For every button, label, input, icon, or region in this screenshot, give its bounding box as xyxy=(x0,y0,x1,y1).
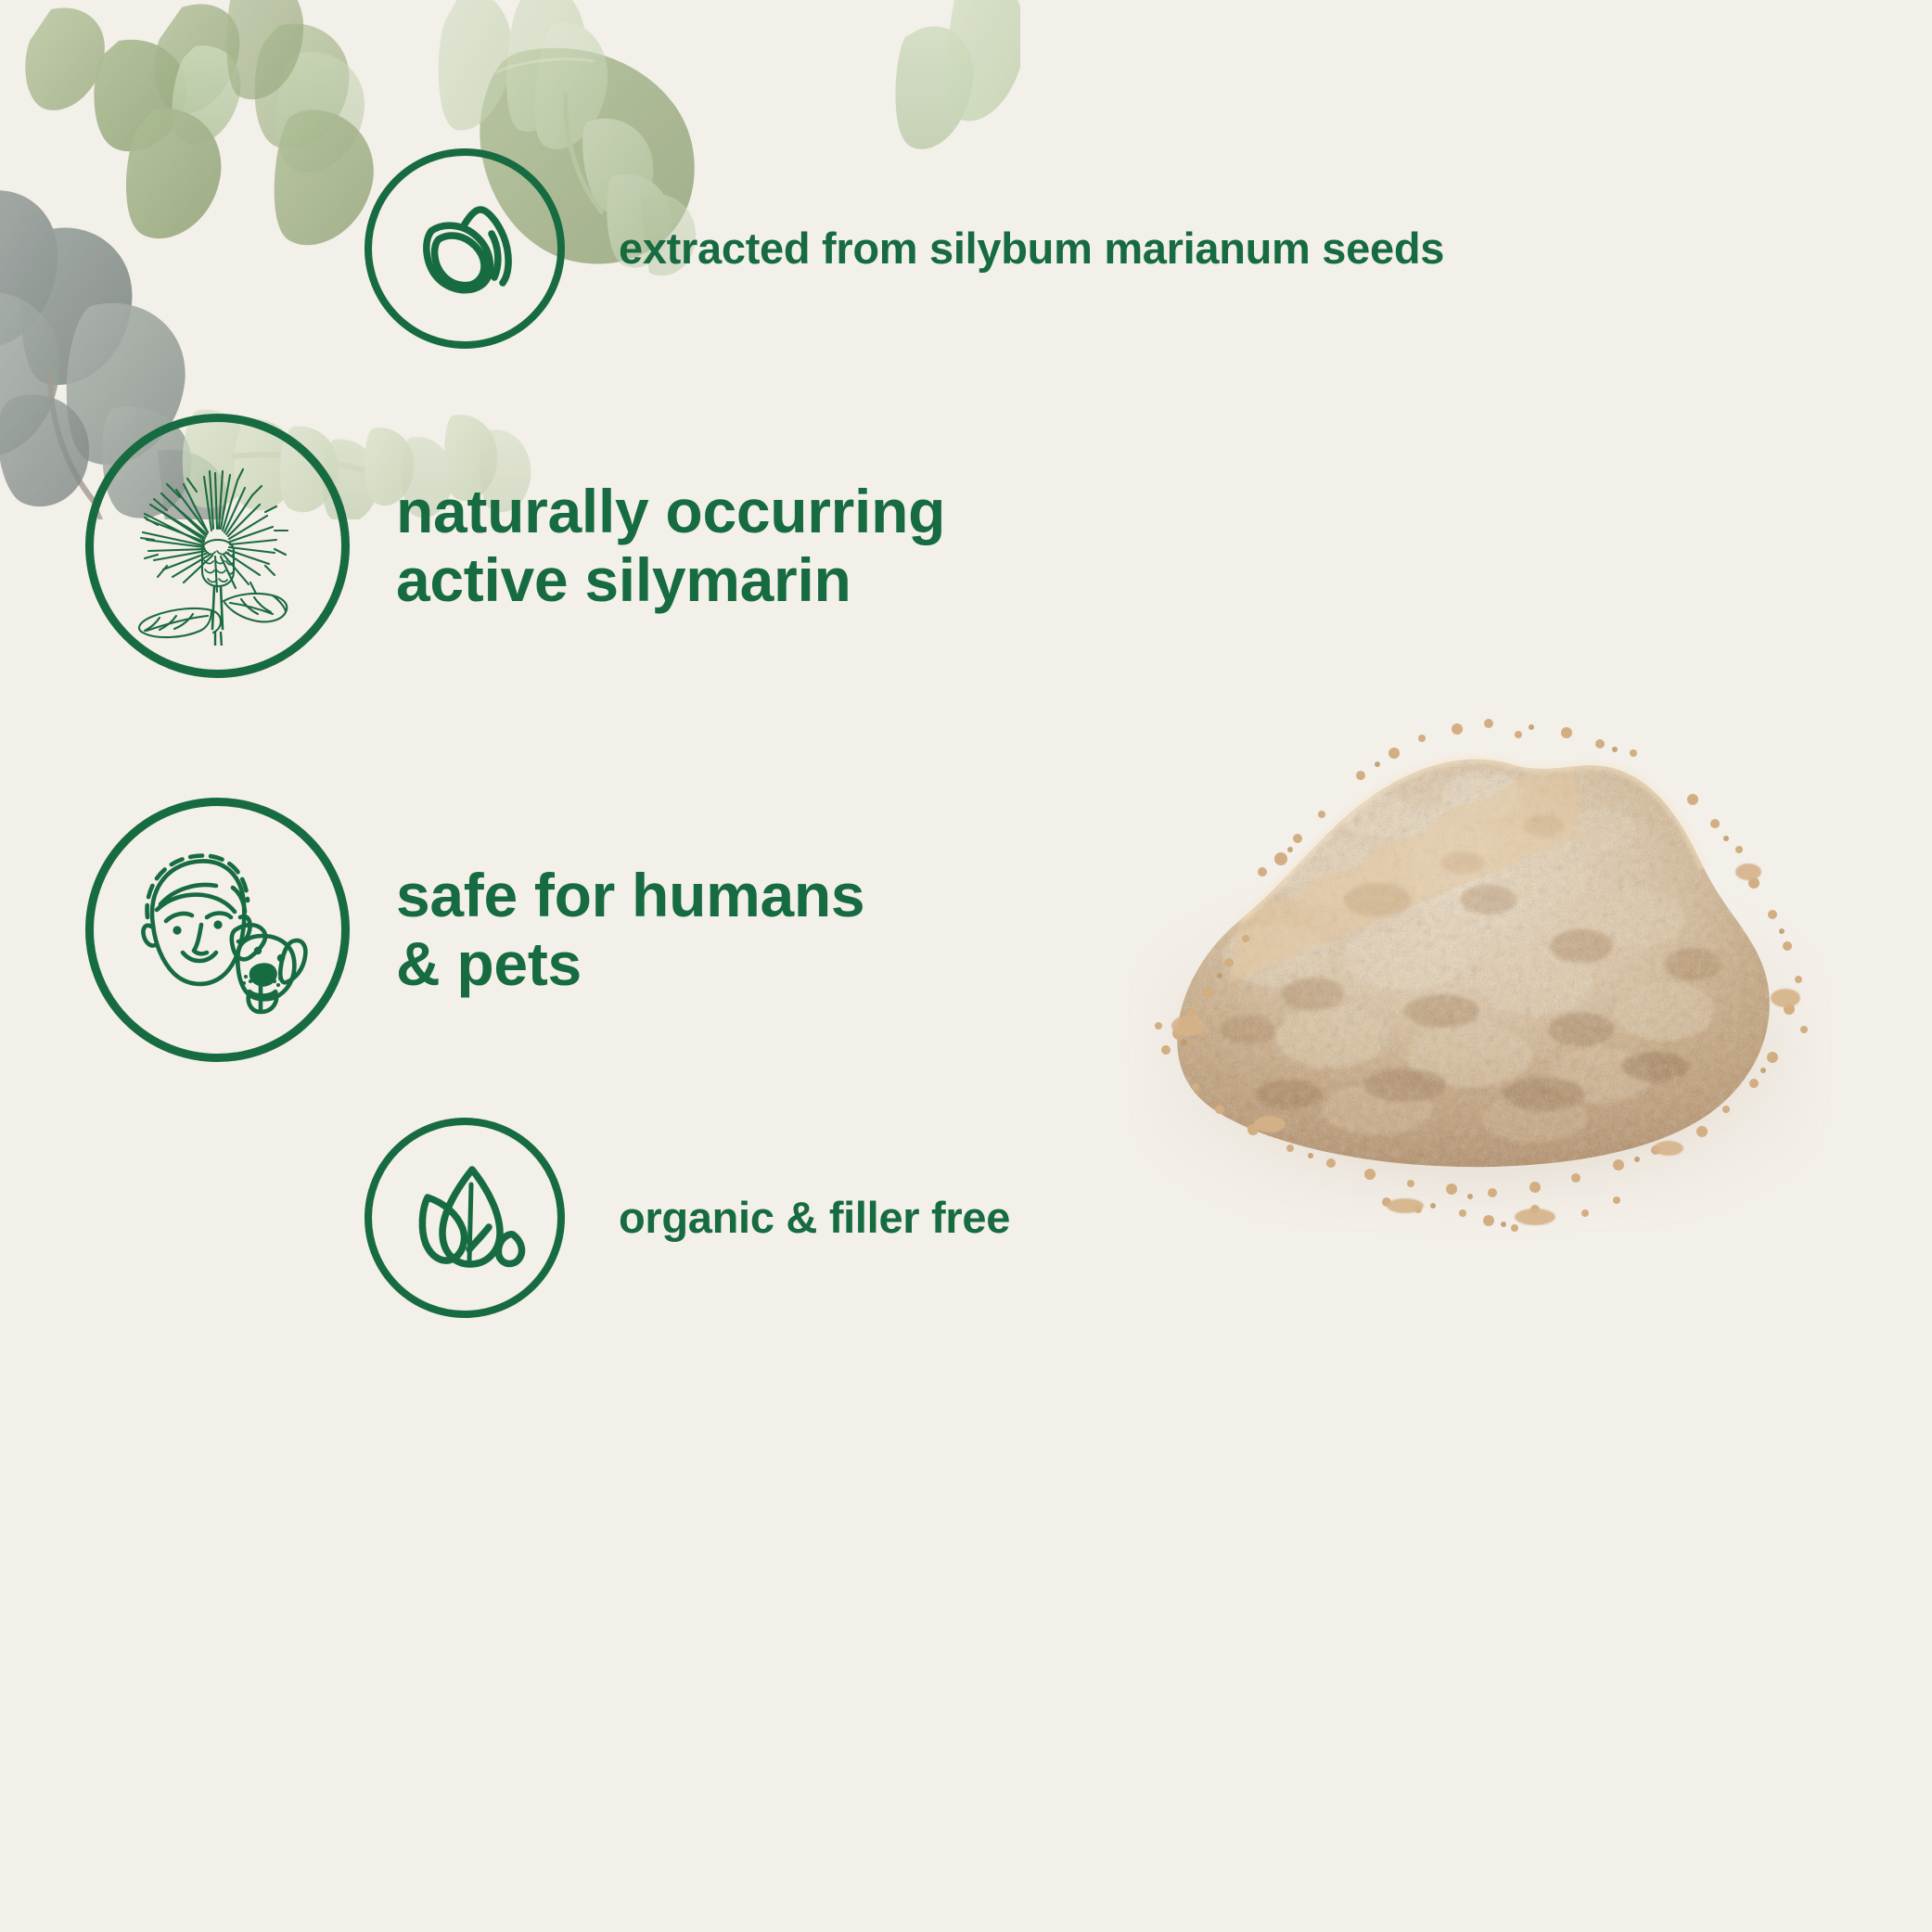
benefit-label-organic: organic & filler free xyxy=(619,1194,1010,1243)
benefit-row-silymarin: naturally occurring active silymarin xyxy=(85,414,945,678)
milk-thistle-flower-icon xyxy=(85,414,350,678)
powder-illustration xyxy=(1099,594,1841,1336)
milk-thistle-seeds-icon xyxy=(365,148,565,349)
benefit-label-silymarin: naturally occurring active silymarin xyxy=(396,478,945,615)
benefit-label-safe: safe for humans & pets xyxy=(396,862,864,999)
benefit-row-organic: organic & filler free xyxy=(365,1118,1010,1318)
human-and-dog-icon xyxy=(85,798,350,1062)
benefit-row-seeds: extracted from silybum marianum seeds xyxy=(365,148,1444,349)
milk-thistle-powder-pile xyxy=(1099,594,1841,1336)
three-leaves-icon xyxy=(365,1118,565,1318)
benefit-row-safe: safe for humans & pets xyxy=(85,798,864,1062)
benefit-label-seeds: extracted from silybum marianum seeds xyxy=(619,224,1444,274)
infographic-canvas: extracted from silybum marianum seeds xyxy=(0,0,1932,1932)
